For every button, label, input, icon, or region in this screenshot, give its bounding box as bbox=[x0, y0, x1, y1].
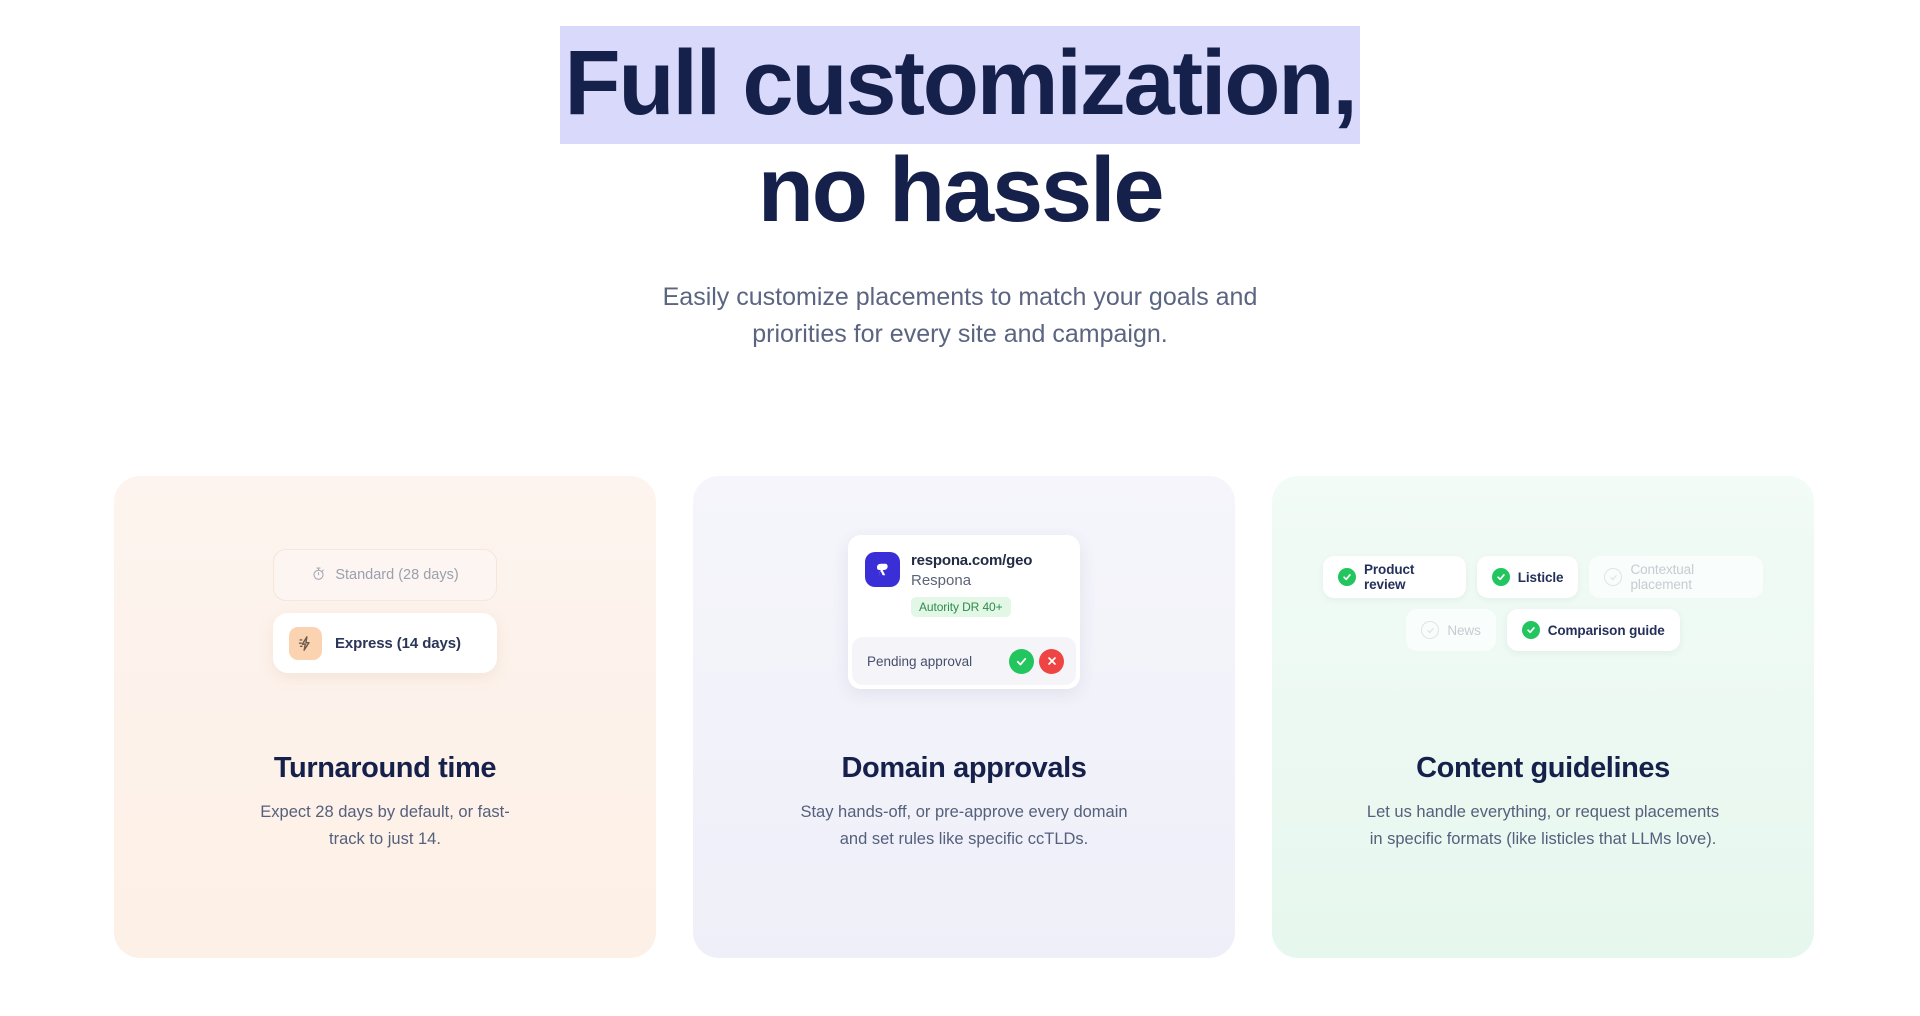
tag-label: Product review bbox=[1364, 562, 1451, 592]
tag-row-2: News Comparison guide bbox=[1323, 609, 1763, 651]
card-desc-domain: Stay hands-off, or pre-approve every dom… bbox=[693, 799, 1235, 852]
card-title-turnaround: Turnaround time bbox=[114, 752, 656, 785]
domain-preview-card: respona.com/geo Respona Autority DR 40+ … bbox=[848, 535, 1080, 689]
domain-name: Respona bbox=[911, 571, 1032, 591]
tag-label: Comparison guide bbox=[1548, 623, 1665, 638]
content-guidelines-visual: Product review Listicle Co bbox=[1272, 476, 1814, 752]
card-desc-line-2: and set rules like specific ccTLDs. bbox=[735, 826, 1193, 853]
page-root: Full customization, no hassle Easily cus… bbox=[0, 0, 1920, 1016]
feature-card-content-guidelines: Product review Listicle Co bbox=[1272, 476, 1814, 958]
approve-button[interactable] bbox=[1009, 649, 1034, 674]
tag-comparison-guide[interactable]: Comparison guide bbox=[1507, 609, 1680, 651]
tag-label: Listicle bbox=[1518, 570, 1564, 585]
tag-news[interactable]: News bbox=[1406, 609, 1495, 651]
check-icon bbox=[1338, 568, 1356, 586]
check-icon bbox=[1522, 621, 1540, 639]
feature-card-domain-approvals: respona.com/geo Respona Autority DR 40+ … bbox=[693, 476, 1235, 958]
approval-actions bbox=[1009, 649, 1064, 674]
subtitle-line-2: priorities for every site and campaign. bbox=[0, 316, 1920, 353]
page-subtitle: Easily customize placements to match you… bbox=[0, 279, 1920, 353]
card-title-content: Content guidelines bbox=[1272, 752, 1814, 785]
domain-status-label: Pending approval bbox=[867, 654, 972, 669]
headline-line-2: no hassle bbox=[0, 137, 1920, 244]
feature-card-turnaround-time: Standard (28 days) Express (14 days) Tur… bbox=[114, 476, 656, 958]
tag-contextual-placement[interactable]: Contextual placement bbox=[1589, 556, 1763, 598]
turnaround-visual: Standard (28 days) Express (14 days) bbox=[114, 476, 656, 752]
option-standard[interactable]: Standard (28 days) bbox=[273, 549, 497, 601]
card-desc-line-1: Stay hands-off, or pre-approve every dom… bbox=[735, 799, 1193, 826]
tag-listicle[interactable]: Listicle bbox=[1477, 556, 1579, 598]
option-express-label: Express (14 days) bbox=[335, 635, 461, 652]
turnaround-options: Standard (28 days) Express (14 days) bbox=[273, 549, 497, 673]
domain-text-block: respona.com/geo Respona Autority DR 40+ bbox=[911, 552, 1032, 617]
domain-info: respona.com/geo Respona Autority DR 40+ bbox=[848, 535, 1080, 637]
tag-product-review[interactable]: Product review bbox=[1323, 556, 1466, 598]
stopwatch-icon bbox=[311, 566, 326, 585]
headline-highlight: Full customization, bbox=[560, 26, 1359, 144]
card-desc-line-1: Let us handle everything, or request pla… bbox=[1314, 799, 1772, 826]
subtitle-line-1: Easily customize placements to match you… bbox=[0, 279, 1920, 316]
option-standard-label: Standard (28 days) bbox=[335, 567, 458, 583]
check-icon bbox=[1492, 568, 1510, 586]
lightning-bolt-icon bbox=[289, 627, 322, 660]
tag-label: News bbox=[1447, 623, 1480, 638]
tag-row-1: Product review Listicle Co bbox=[1323, 556, 1763, 598]
tag-label: Contextual placement bbox=[1630, 562, 1748, 592]
card-desc-line-1: Expect 28 days by default, or fast- bbox=[156, 799, 614, 826]
card-desc-content: Let us handle everything, or request pla… bbox=[1272, 799, 1814, 852]
card-desc-turnaround: Expect 28 days by default, or fast- trac… bbox=[114, 799, 656, 852]
hero-section: Full customization, no hassle Easily cus… bbox=[0, 0, 1920, 353]
option-express[interactable]: Express (14 days) bbox=[273, 613, 497, 673]
card-desc-line-2: track to just 14. bbox=[156, 826, 614, 853]
domain-url: respona.com/geo bbox=[911, 552, 1032, 571]
check-icon bbox=[1604, 568, 1622, 586]
respona-logo-icon bbox=[865, 552, 900, 587]
check-icon bbox=[1421, 621, 1439, 639]
headline-line-1: Full customization, bbox=[0, 30, 1920, 137]
content-format-tags: Product review Listicle Co bbox=[1323, 556, 1763, 662]
reject-button[interactable] bbox=[1039, 649, 1064, 674]
feature-cards: Standard (28 days) Express (14 days) Tur… bbox=[114, 476, 1814, 958]
domain-approval-bar: Pending approval bbox=[852, 637, 1076, 685]
card-title-domain: Domain approvals bbox=[693, 752, 1235, 785]
domain-visual: respona.com/geo Respona Autority DR 40+ … bbox=[693, 476, 1235, 752]
domain-authority-badge: Autority DR 40+ bbox=[911, 597, 1011, 617]
card-desc-line-2: in specific formats (like listicles that… bbox=[1314, 826, 1772, 853]
page-title: Full customization, no hassle bbox=[0, 30, 1920, 243]
